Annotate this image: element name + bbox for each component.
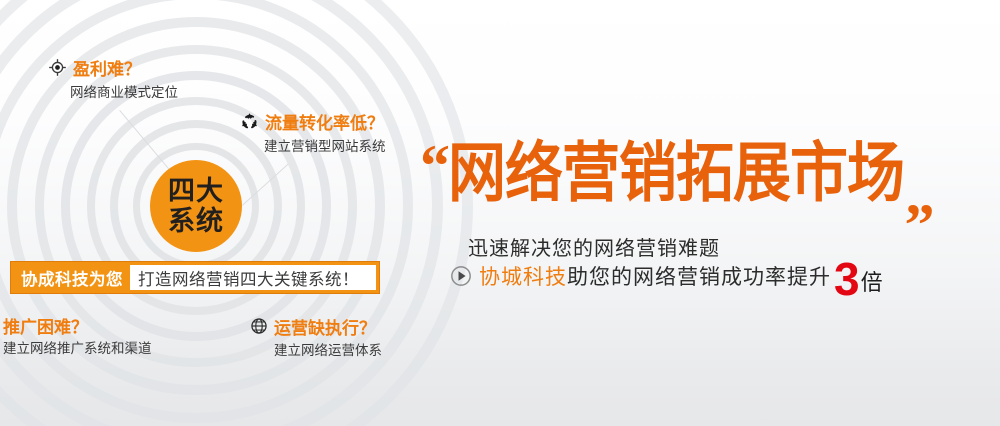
feature-profit-subtitle: 网络商业模式定位: [70, 84, 178, 102]
feature-promotion-subtitle: 建立网络推广系统和渠道: [3, 340, 152, 358]
tagline-strip: 协成科技为您 打造网络营销四大关键系统！: [10, 261, 380, 294]
feature-operation-title: 运营缺执行？: [274, 319, 376, 339]
core-circle-line1: 四大: [168, 176, 224, 206]
tagline-strip-message: 打造网络营销四大关键系统！: [130, 265, 376, 290]
feature-operation[interactable]: 运营缺执行？ 建立网络运营体系: [250, 317, 382, 360]
feature-conversion-title: 流量转化率低？: [265, 114, 384, 134]
promo-banner: 四大 系统 盈利难？ 网络商业模式定位: [0, 0, 1000, 426]
quote-close-icon: „: [905, 174, 935, 214]
connector-line-conversion: [242, 164, 289, 206]
sub-line-2-text: 助您的网络营销成功率提升: [567, 261, 831, 291]
quote-open-icon: “: [420, 146, 450, 186]
target-icon: [48, 58, 67, 82]
sub-line-1: 迅速解决您的网络营销难题: [468, 232, 720, 261]
sub-line-2-brand: 协城科技: [479, 261, 567, 291]
sub-line-2: 协城科技 助您的网络营销成功率提升 3 倍: [450, 260, 883, 292]
feature-promotion-title: 推广困难？: [3, 318, 88, 338]
tagline-strip-brand: 协成科技为您: [11, 266, 130, 290]
play-circle-icon: [450, 265, 472, 287]
feature-profit-title: 盈利难？: [73, 60, 141, 80]
feature-promotion[interactable]: 推广困难？ 建立网络推广系统和渠道: [3, 318, 152, 358]
feature-operation-subtitle: 建立网络运营体系: [274, 342, 382, 360]
right-panel: “ 网络营销拓展市场 „ 迅速解决您的网络营销难题 协城科技 助您的网络营销成功…: [420, 0, 1000, 426]
feature-profit[interactable]: 盈利难？ 网络商业模式定位: [48, 58, 178, 102]
headline-text: 网络营销拓展市场: [448, 140, 904, 207]
globe-icon: [250, 317, 268, 340]
core-circle-line2: 系统: [168, 206, 224, 236]
sub-line-2-unit: 倍: [861, 265, 883, 297]
feature-conversion[interactable]: 流量转化率低？ 建立营销型网站系统: [240, 112, 386, 156]
recycle-icon: [240, 112, 259, 136]
core-circle: 四大 系统: [150, 160, 242, 252]
feature-conversion-subtitle: 建立营销型网站系统: [264, 138, 386, 156]
sub-line-2-number: 3: [834, 264, 860, 294]
headline-row: “ 网络营销拓展市场 „: [420, 140, 935, 200]
